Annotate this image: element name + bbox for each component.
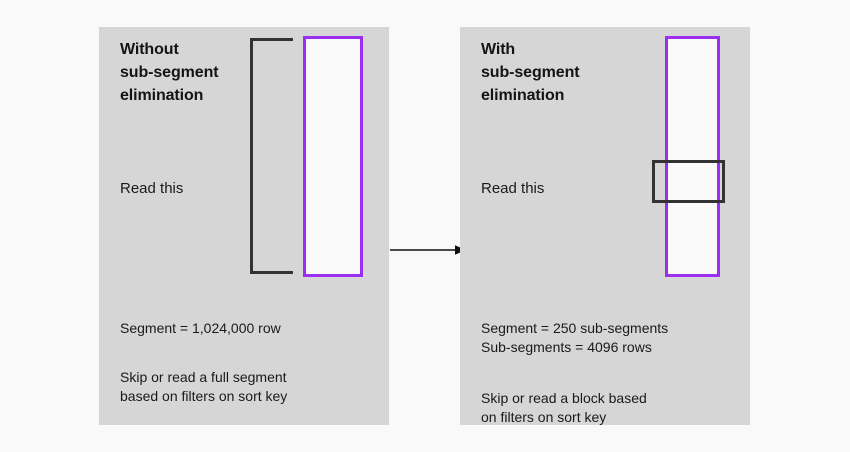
read-this-label-without: Read this: [120, 179, 183, 199]
segment-stats-with: Segment = 250 sub-segments Sub-segments …: [481, 319, 668, 357]
segment-rectangle-without: [303, 36, 363, 277]
segment-note-without: Skip or read a full segment based on fil…: [120, 368, 287, 406]
panel-without-sub-segment-elimination: Without sub-segment elimination Read thi…: [99, 27, 389, 425]
segment-stats-without: Segment = 1,024,000 row: [120, 319, 281, 338]
segment-note-with: Skip or read a block based on filters on…: [481, 389, 647, 427]
sub-segment-block-icon: [652, 160, 725, 203]
segment-read-bracket-icon: [250, 38, 293, 274]
flow-arrow-right-icon: [390, 238, 466, 262]
panel-heading-without: Without sub-segment elimination: [120, 38, 218, 107]
segment-rectangle-with: [665, 36, 720, 277]
panel-with-sub-segment-elimination: With sub-segment elimination Read this S…: [460, 27, 750, 425]
panel-heading-with: With sub-segment elimination: [481, 38, 579, 107]
read-this-label-with: Read this: [481, 179, 544, 199]
diagram-canvas: Without sub-segment elimination Read thi…: [0, 0, 850, 452]
